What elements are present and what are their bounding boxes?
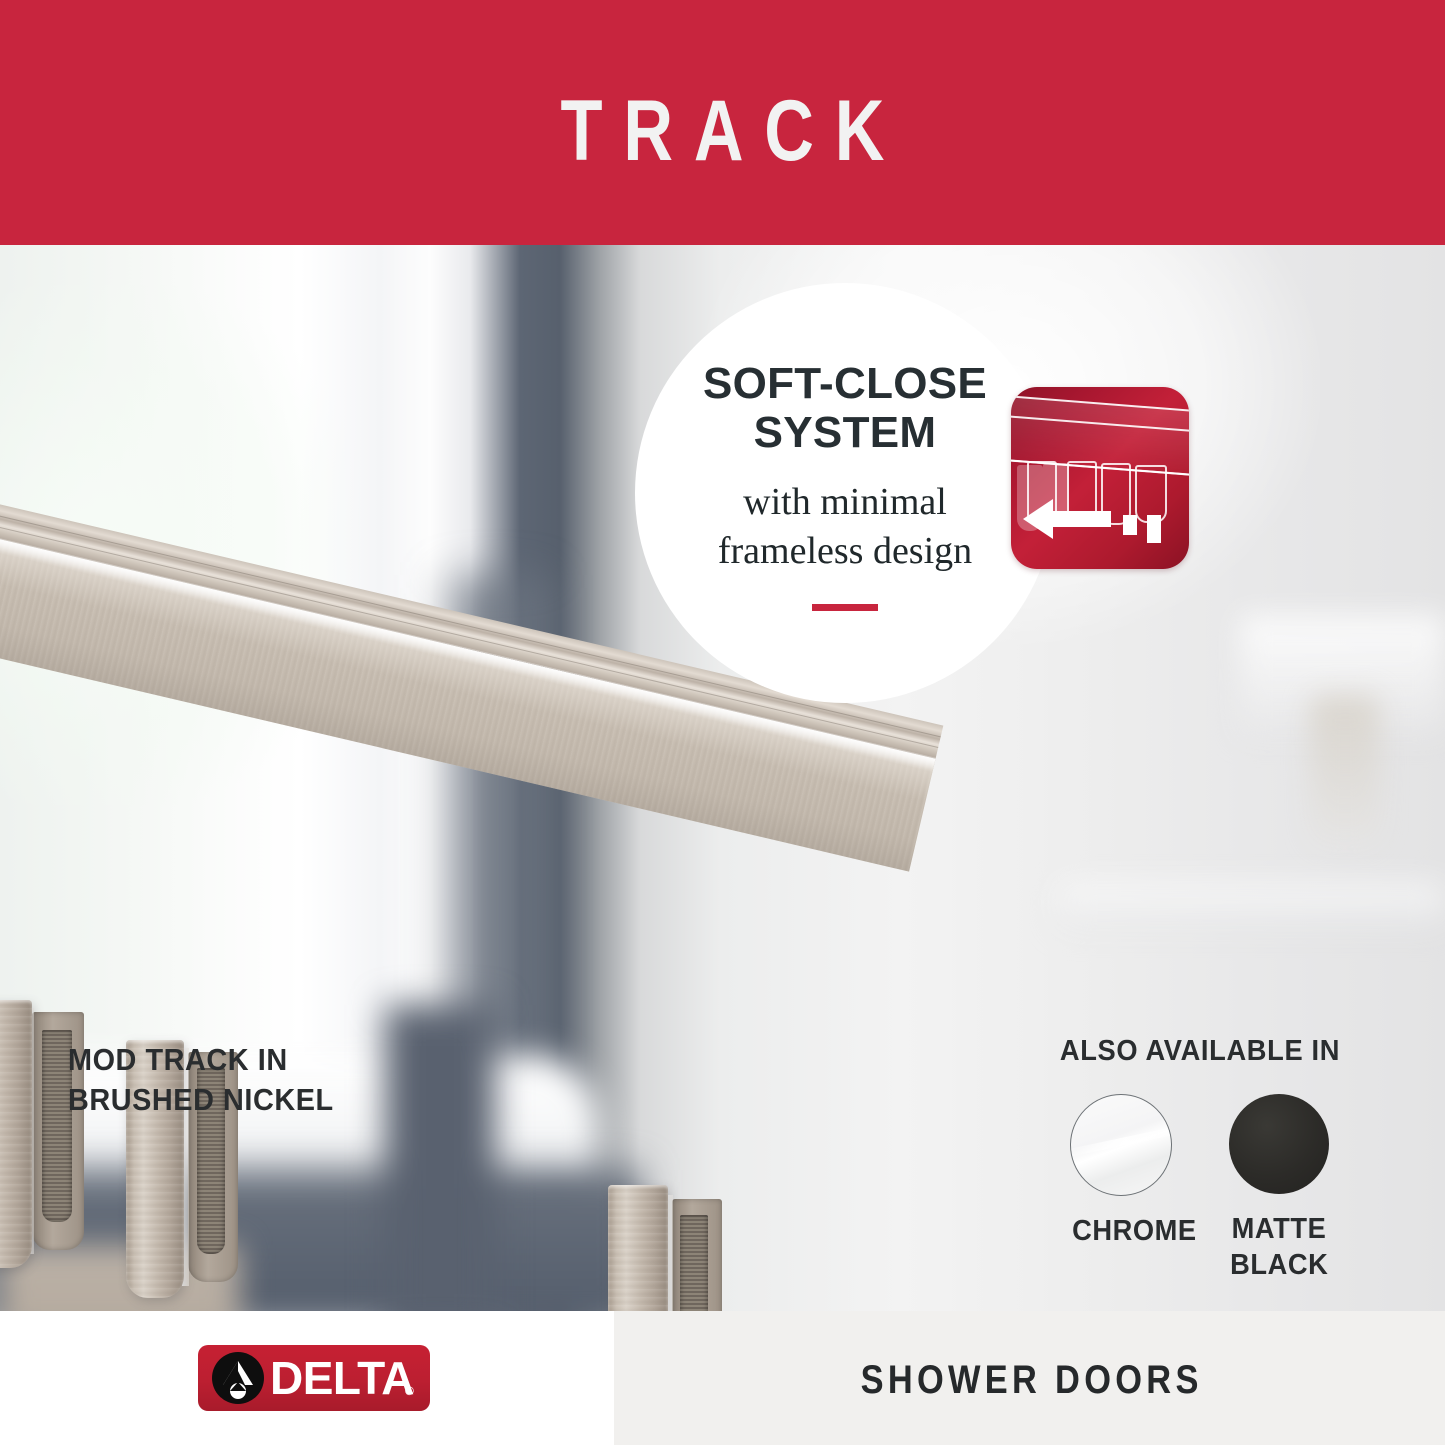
badge-subtitle-line-2: frameless design [663, 527, 1027, 576]
badge-subtitle: with minimal frameless design [663, 478, 1027, 577]
footer-category-label: SHOWER DOORS [672, 1358, 1387, 1403]
registered-mark: ® [405, 1385, 414, 1397]
matte-black-swatch-icon[interactable] [1229, 1094, 1329, 1194]
icon-arrow-shaft [1049, 511, 1111, 527]
badge-title: SOFT-CLOSE SYSTEM [673, 359, 1017, 458]
footer-bar: DELTA ® SHOWER DOORS [0, 1311, 1445, 1445]
finish-label-chrome: CHROME [1072, 1214, 1170, 1250]
delta-logo[interactable]: DELTA ® [198, 1345, 430, 1411]
brushed-texture [608, 1185, 668, 1311]
delta-triangle-icon [212, 1352, 264, 1404]
chrome-swatch-icon[interactable] [1070, 1094, 1172, 1196]
finish-label-line-1: MATTE [1230, 1212, 1328, 1248]
badge-subtitle-line-1: with minimal [663, 478, 1027, 527]
soft-close-badge: SOFT-CLOSE SYSTEM with minimal frameless… [635, 283, 1055, 703]
page-title: TRACK [145, 88, 1301, 174]
finishes-title: ALSO AVAILABLE IN [1050, 1035, 1351, 1068]
finish-label-line-2: BLACK [1230, 1248, 1328, 1284]
finish-option-chrome[interactable]: CHROME [1069, 1094, 1173, 1284]
header-banner: TRACK [0, 0, 1445, 245]
soft-close-track-arrow-icon [1011, 387, 1189, 569]
badge-title-line-2: SYSTEM [673, 408, 1017, 457]
background-bottles [1310, 695, 1380, 845]
icon-arrow-left [1023, 499, 1111, 539]
product-marketing-poster: TRACK [0, 0, 1445, 1445]
finish-option-matte-black[interactable]: MATTE BLACK [1227, 1094, 1331, 1284]
badge-title-line-1: SOFT-CLOSE [673, 359, 1017, 408]
brushed-texture [0, 1000, 32, 1268]
background-counter-right [1060, 885, 1445, 925]
icon-motion-trail [1123, 515, 1137, 535]
product-caption: MOD TRACK IN BRUSHED NICKEL [68, 1040, 375, 1119]
product-caption-line-2: BRUSHED NICKEL [68, 1080, 375, 1120]
finish-swatch-row: CHROME MATTE BLACK [1040, 1094, 1360, 1284]
product-caption-line-1: MOD TRACK IN [68, 1040, 375, 1080]
product-photo: SOFT-CLOSE SYSTEM with minimal frameless… [0, 245, 1445, 1311]
brand-wordmark: DELTA [270, 1353, 414, 1403]
footer-brand-panel: DELTA ® [0, 1311, 614, 1445]
badge-accent-rule [812, 604, 878, 611]
finish-label-matte-black: MATTE BLACK [1230, 1212, 1328, 1284]
also-available-finishes: ALSO AVAILABLE IN CHROME MATTE BLACK [1040, 1035, 1360, 1284]
icon-motion-trail [1147, 515, 1161, 543]
